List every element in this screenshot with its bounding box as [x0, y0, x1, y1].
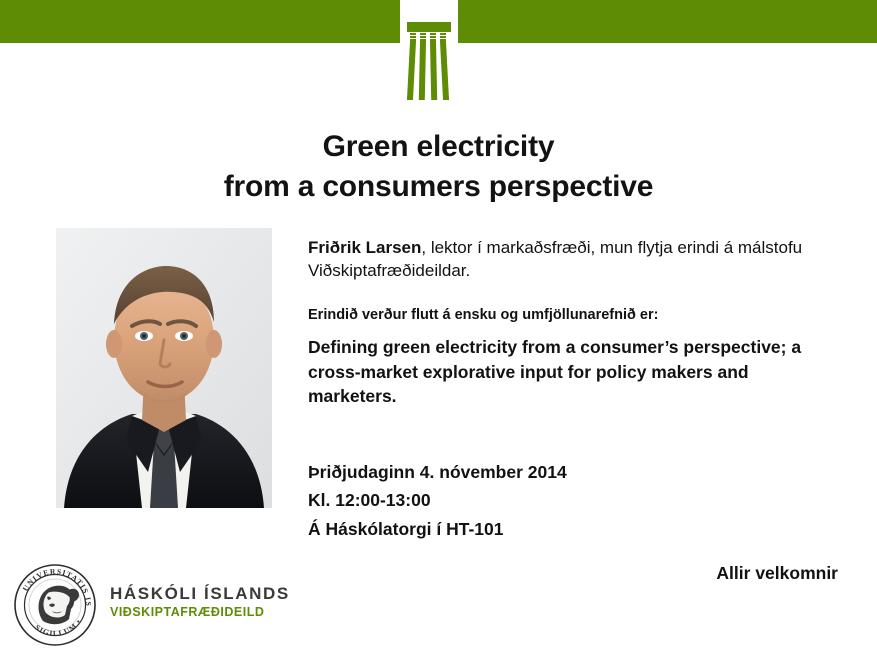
- column-shaft: [430, 42, 437, 100]
- abstract-title: Defining green electricity from a consum…: [308, 335, 838, 410]
- university-seal-icon: UNIVERSITATIS ISLANDIAE SIGILLUM •: [13, 563, 97, 647]
- event-time: Kl. 12:00-13:00: [308, 486, 838, 514]
- speaker-intro-paragraph: Friðrik Larsen, lektor í markaðsfræði, m…: [308, 236, 838, 283]
- title-line-2: from a consumers perspective: [0, 167, 877, 207]
- event-details-block: Þriðjudaginn 4. nóvember 2014 Kl. 12:00-…: [308, 458, 838, 543]
- architrave-bar: [407, 22, 451, 32]
- event-location: Á Háskólatorgi í HT-101: [308, 515, 838, 543]
- body-text-column: Friðrik Larsen, lektor í markaðsfræði, m…: [308, 236, 838, 409]
- university-wordmark: HÁSKÓLI ÍSLANDS VIÐSKIPTAFRÆÐIDEILD: [110, 583, 370, 621]
- seminar-announcement-poster: Green electricity from a consumers persp…: [0, 0, 877, 659]
- capital-row: [410, 33, 448, 42]
- title-line-1: Green electricity: [0, 127, 877, 167]
- language-note: Erindið verður flutt á ensku og umfjöllu…: [308, 306, 838, 325]
- speaker-name: Friðrik Larsen: [308, 238, 421, 257]
- wordmark-faculty: VIÐSKIPTAFRÆÐIDEILD: [110, 604, 370, 620]
- column-shaft: [440, 42, 449, 100]
- wordmark-university: HÁSKÓLI ÍSLANDS: [110, 583, 370, 604]
- speaker-portrait-photo: [56, 228, 272, 508]
- poster-title: Green electricity from a consumers persp…: [0, 127, 877, 207]
- column-logo-icon: [400, 22, 458, 102]
- column-shaft: [419, 42, 426, 100]
- column-shaft: [407, 42, 416, 100]
- event-date: Þriðjudaginn 4. nóvember 2014: [308, 458, 838, 486]
- welcome-note: Allir velkomnir: [308, 563, 838, 584]
- column-capital: [420, 33, 426, 42]
- column-capital: [440, 33, 446, 42]
- column-capital: [430, 33, 436, 42]
- column-capital: [410, 33, 416, 42]
